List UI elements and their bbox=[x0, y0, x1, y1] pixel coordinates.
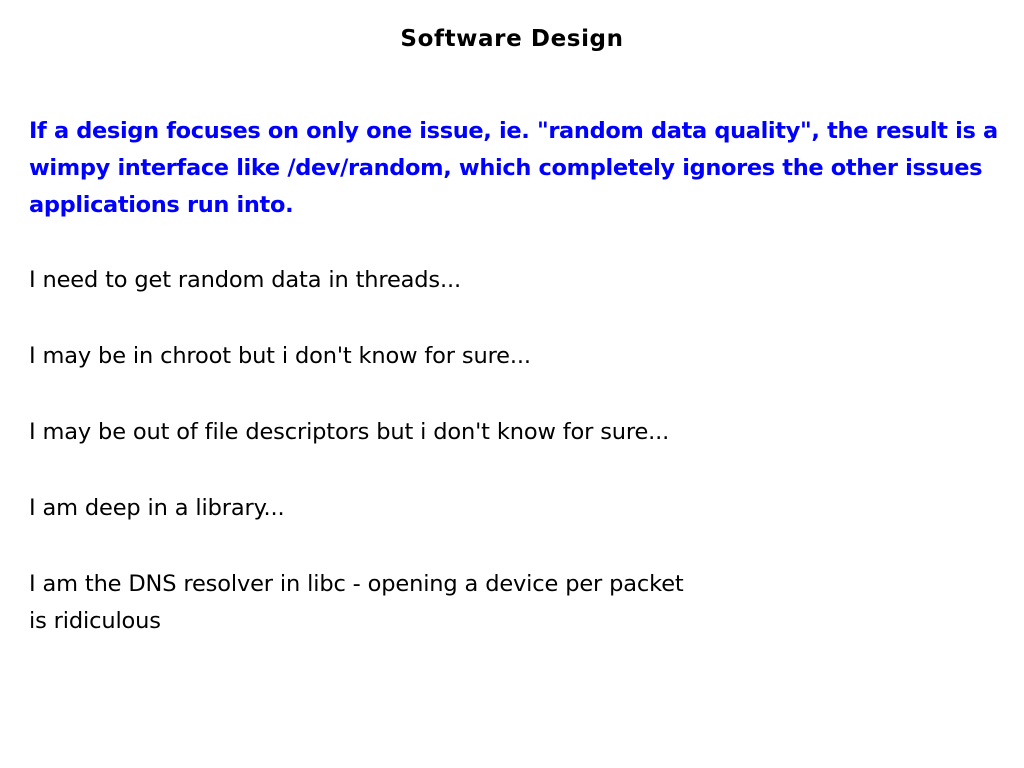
paragraph-file-descriptors: I may be out of file descriptors but i d… bbox=[29, 414, 1024, 451]
slide-body: If a design focuses on only one issue, i… bbox=[29, 113, 1024, 640]
page-title: Software Design bbox=[0, 24, 1024, 54]
paragraph-dns-resolver: I am the DNS resolver in libc - opening … bbox=[29, 566, 1024, 640]
presentation-slide: Software Design If a design focuses on o… bbox=[0, 0, 1024, 768]
paragraph-library: I am deep in a library... bbox=[29, 490, 1024, 527]
paragraph-chroot: I may be in chroot but i don't know for … bbox=[29, 338, 1024, 375]
paragraph-threads: I need to get random data in threads... bbox=[29, 262, 1024, 299]
paragraph-design-focus: If a design focuses on only one issue, i… bbox=[29, 113, 1024, 224]
